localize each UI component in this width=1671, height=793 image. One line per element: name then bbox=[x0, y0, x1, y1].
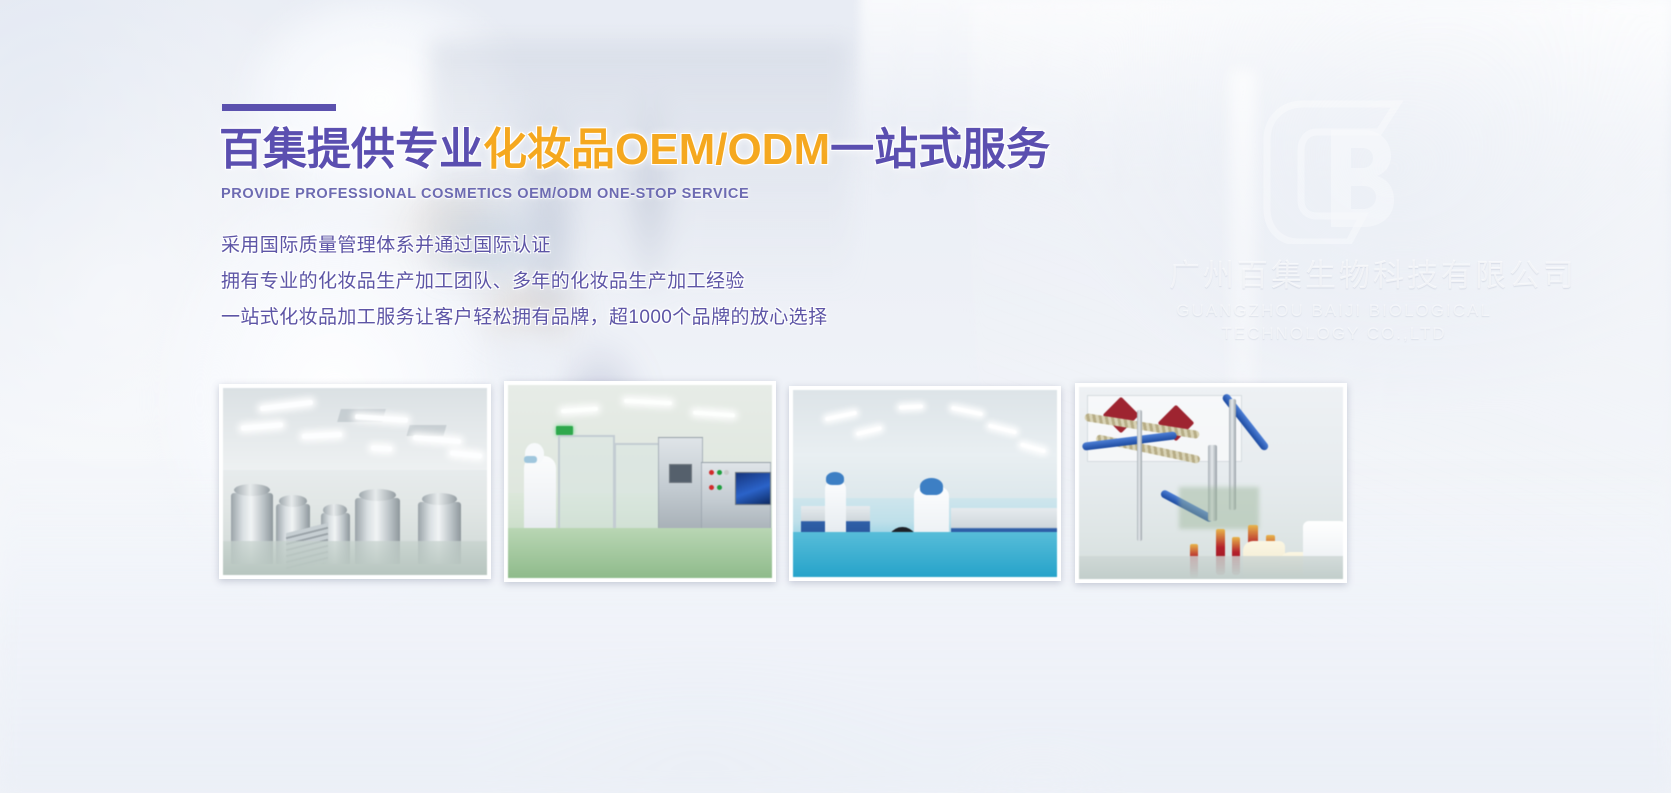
photo-1-image bbox=[223, 388, 487, 575]
photo-3-image bbox=[793, 390, 1057, 577]
photo-gallery bbox=[0, 0, 1671, 793]
photo-4-image bbox=[1079, 387, 1343, 579]
gallery-photo-1[interactable] bbox=[219, 384, 491, 579]
banner-stage: 广州百集生物科技有限公司 GUANGZHOU BAIJI BIOLOGICAL … bbox=[0, 0, 1671, 793]
gallery-photo-4[interactable] bbox=[1075, 383, 1347, 583]
photo-2-image bbox=[508, 385, 772, 578]
gallery-photo-2[interactable] bbox=[504, 381, 776, 582]
gallery-photo-3[interactable] bbox=[789, 386, 1061, 581]
